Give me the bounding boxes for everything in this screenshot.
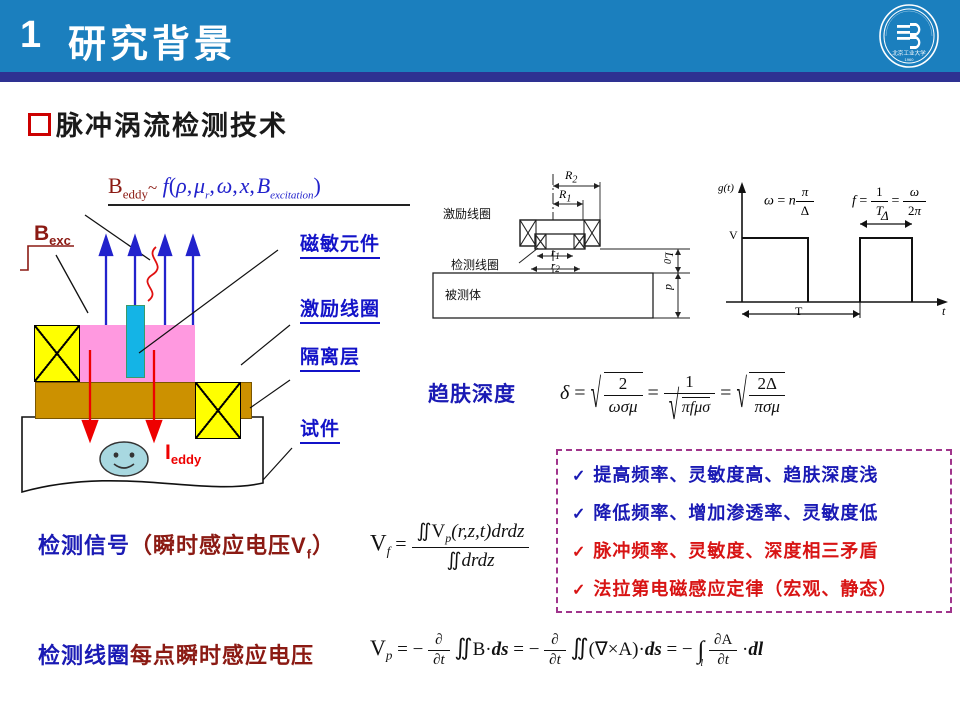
- page-number: 1: [20, 14, 42, 57]
- skin-depth-formula: δ = 2ωσμ = 1πfμσ = 2Δπσμ: [560, 372, 785, 417]
- skin-depth-symbol: δ: [560, 382, 569, 404]
- detection-signal-label-blue: 检测信号: [38, 533, 130, 558]
- formula-f: f = 1T = ω2π: [852, 184, 926, 219]
- dimension-R2: R2: [565, 168, 577, 185]
- dimension-r2: r2: [551, 260, 560, 274]
- detection-coil-label-red: 每点瞬时感应电压: [130, 643, 314, 668]
- dimension-d: d: [662, 284, 677, 290]
- checklist-item-3: ✓法拉第电磁感应定律（宏观、静态）: [572, 575, 897, 601]
- label-excitation-coil: 激励线圈: [443, 205, 491, 222]
- detection-coil-label-blue: 检测线圈: [38, 643, 130, 668]
- checklist-box: ✓提高频率、灵敏度高、趋肤深度浅 ✓降低频率、增加渗透率、灵敏度低 ✓脉冲频率、…: [556, 449, 952, 613]
- check-icon: ✓: [572, 582, 586, 599]
- mid-schematic: R2 R1 r1 r2 L0 d 激励线圈 检测线圈 被测体: [425, 168, 710, 323]
- page-title: 研究背景: [68, 13, 236, 68]
- callout-label-magnetic-sensor: 磁敏元件: [300, 229, 380, 259]
- vf-formula: Vf = ∬Vp(r,z,t)drdz ∬drdz: [370, 520, 529, 572]
- header-accent-rule-white: [0, 82, 960, 85]
- section-bullet-icon: [28, 113, 51, 136]
- callout-label-isolation-layer: 隔离层: [300, 342, 360, 372]
- callout-label-excitation-coil: 激励线圈: [300, 294, 380, 324]
- checklist-item-0: ✓提高频率、灵敏度高、趋肤深度浅: [572, 461, 878, 487]
- detection-signal-row: 检测信号（瞬时感应电压Vf）: [38, 528, 335, 561]
- chart-xlabel: t: [942, 304, 945, 319]
- beijing-university-of-technology-logo: 北京工业大学 1960: [876, 3, 942, 69]
- callout-leaders: [20, 165, 420, 510]
- svg-text:1960: 1960: [905, 57, 915, 62]
- label-detection-coil: 检测线圈: [451, 256, 499, 273]
- checklist-item-1: ✓降低频率、增加渗透率、灵敏度低: [572, 499, 878, 525]
- formula-omega: ω = nπΔ: [764, 184, 814, 219]
- callout-label-specimen: 试件: [300, 414, 340, 444]
- detection-coil-row: 检测线圈每点瞬时感应电压: [38, 638, 314, 670]
- check-icon: ✓: [572, 468, 586, 485]
- checklist-item-2: ✓脉冲频率、灵敏度、深度相三矛盾: [572, 537, 878, 563]
- skin-depth-label: 趋肤深度: [428, 378, 516, 408]
- label-test-object: 被测体: [445, 286, 481, 303]
- check-icon: ✓: [572, 544, 586, 561]
- left-diagram: Beddy~ f(ρ, μr, ω, x, Bexcitation) Bexc: [20, 165, 420, 510]
- chart-amplitude-tick: V: [729, 228, 738, 243]
- dimension-L0: L0: [661, 252, 676, 264]
- detection-signal-label-red: （瞬时感应电压Vf）: [130, 533, 335, 558]
- section-title: 脉冲涡流检测技术: [56, 104, 288, 143]
- dimension-R1: R1: [559, 187, 571, 204]
- vp-formula: Vp = − ∂∂t ∬B·ds = − ∂∂t ∬(∇×A)·ds = − ∫…: [370, 632, 763, 669]
- pulse-waveform-chart: g(t) t V T Δ ω = nπΔ f = 1T = ω2π: [712, 168, 960, 323]
- svg-text:北京工业大学: 北京工业大学: [892, 49, 926, 57]
- check-icon: ✓: [572, 506, 586, 523]
- chart-period-label: T: [795, 304, 802, 319]
- chart-ylabel: g(t): [718, 182, 734, 194]
- header-accent-rule: [0, 72, 960, 82]
